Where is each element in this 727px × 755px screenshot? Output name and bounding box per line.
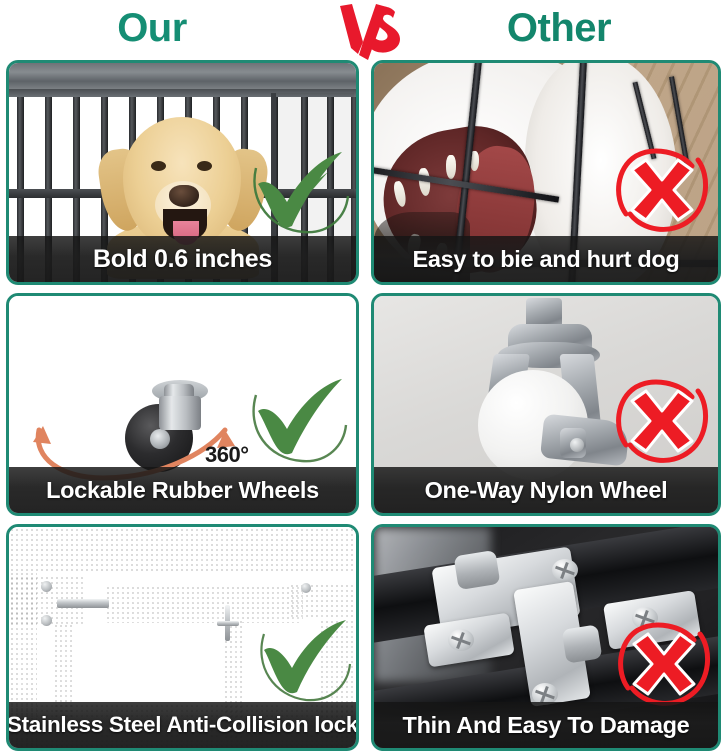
- panel-ours-steel-lock[interactable]: Stainless Steel Anti-Collision lock: [6, 524, 359, 751]
- header-title-other: Other: [364, 0, 727, 56]
- caption-other-row2: One-Way Nylon Wheel: [374, 467, 718, 513]
- panel-other-thin-wire[interactable]: Easy to bie and hurt dog: [371, 60, 721, 285]
- cell-ours-row2: 360° Lockable Rubber Wheels: [0, 289, 365, 520]
- cell-ours-row1: Bold 0.6 inches: [0, 56, 365, 289]
- caption-other-row1: Easy to bie and hurt dog: [374, 236, 718, 282]
- cell-ours-row3: Stainless Steel Anti-Collision lock: [0, 520, 365, 755]
- panel-other-nylon-wheel[interactable]: One-Way Nylon Wheel: [371, 293, 721, 516]
- caption-ours-row2: Lockable Rubber Wheels: [9, 467, 356, 513]
- caption-ours-row1: Bold 0.6 inches: [9, 236, 356, 282]
- caption-other-row3: Thin And Easy To Damage: [374, 702, 718, 748]
- cell-other-row3: Thin And Easy To Damage: [365, 520, 727, 755]
- header: Our Other: [0, 0, 727, 56]
- panel-ours-bold-bars[interactable]: Bold 0.6 inches: [6, 60, 359, 285]
- comparison-grid: Bold 0.6 inches: [0, 56, 727, 755]
- panel-ours-lockable-wheels[interactable]: 360° Lockable Rubber Wheels: [6, 293, 359, 516]
- caption-ours-row3: Stainless Steel Anti-Collision lock: [9, 702, 356, 748]
- panel-other-thin-hinge[interactable]: Thin And Easy To Damage: [371, 524, 721, 751]
- cell-other-row1: Easy to bie and hurt dog: [365, 56, 727, 289]
- comparison-infographic: Our Other: [0, 0, 727, 755]
- rotation-degrees-label: 360°: [205, 442, 249, 468]
- cell-other-row2: One-Way Nylon Wheel: [365, 289, 727, 520]
- header-title-ours: Our: [1, 0, 364, 56]
